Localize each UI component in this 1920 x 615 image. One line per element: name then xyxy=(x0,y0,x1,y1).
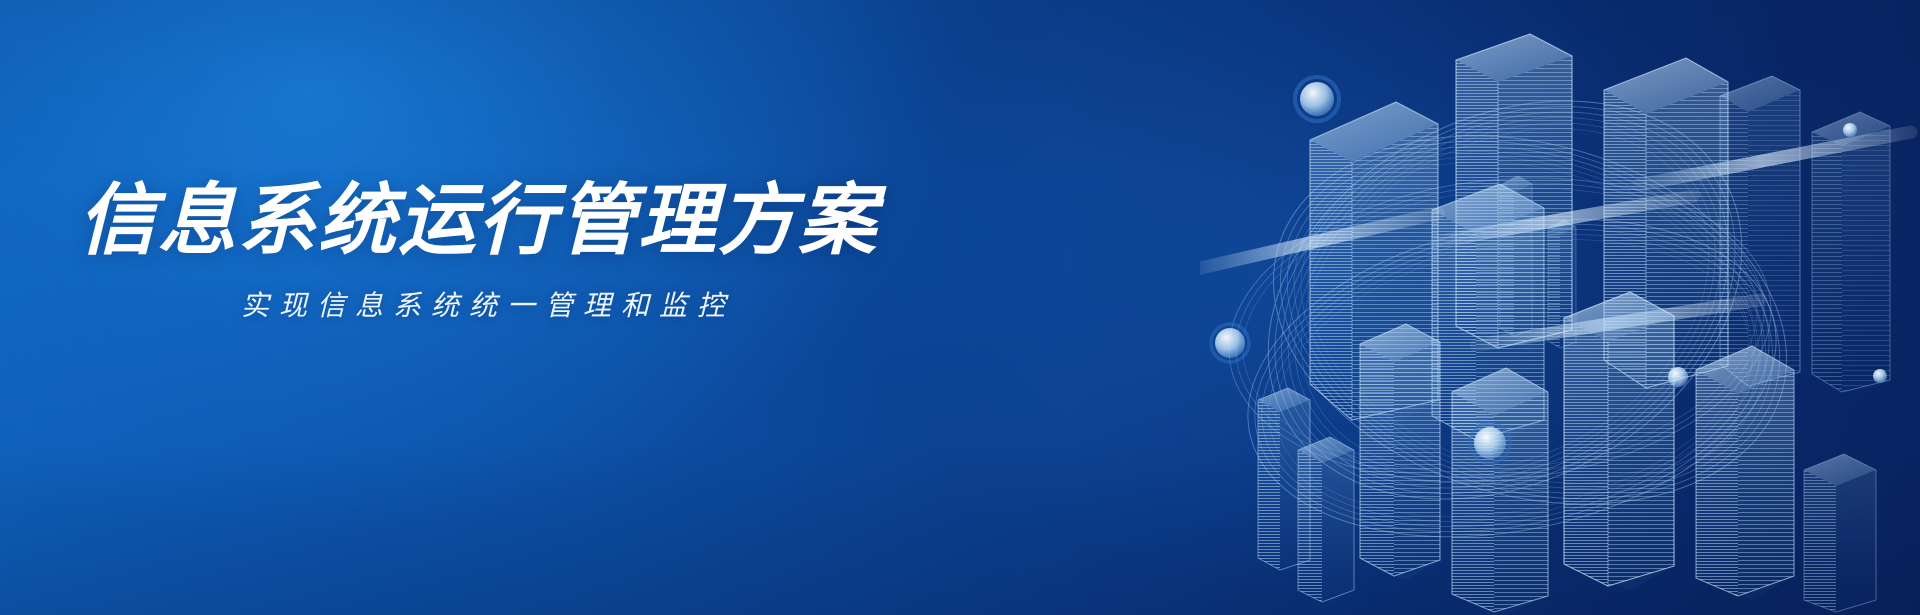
wireframe-city-graphic xyxy=(1200,0,1920,615)
glow-dot-lower-right xyxy=(1873,369,1887,383)
glow-dot-top-right xyxy=(1843,123,1857,137)
tower-front-2 xyxy=(1452,368,1548,615)
tower-back-1 xyxy=(1720,76,1800,388)
banner-text-block: 信息系统运行管理方案 实现信息系统统一管理和监控 xyxy=(78,178,908,324)
glow-dot-bottom-left xyxy=(1470,423,1510,463)
glow-dot-mid-right xyxy=(1668,367,1688,387)
tower-front-small-2 xyxy=(1298,437,1354,604)
tower-front-3 xyxy=(1564,292,1674,590)
page-title: 信息系统运行管理方案 xyxy=(78,178,908,262)
tower-front-small-3 xyxy=(1804,454,1876,615)
tower-front-1 xyxy=(1360,324,1440,580)
hero-banner: 信息系统运行管理方案 实现信息系统统一管理和监控 xyxy=(0,0,1920,615)
page-subtitle: 实现信息系统统一管理和监控 xyxy=(78,284,908,324)
glow-dot-mid-left xyxy=(1211,324,1249,362)
glow-dot-top-left xyxy=(1295,77,1339,121)
